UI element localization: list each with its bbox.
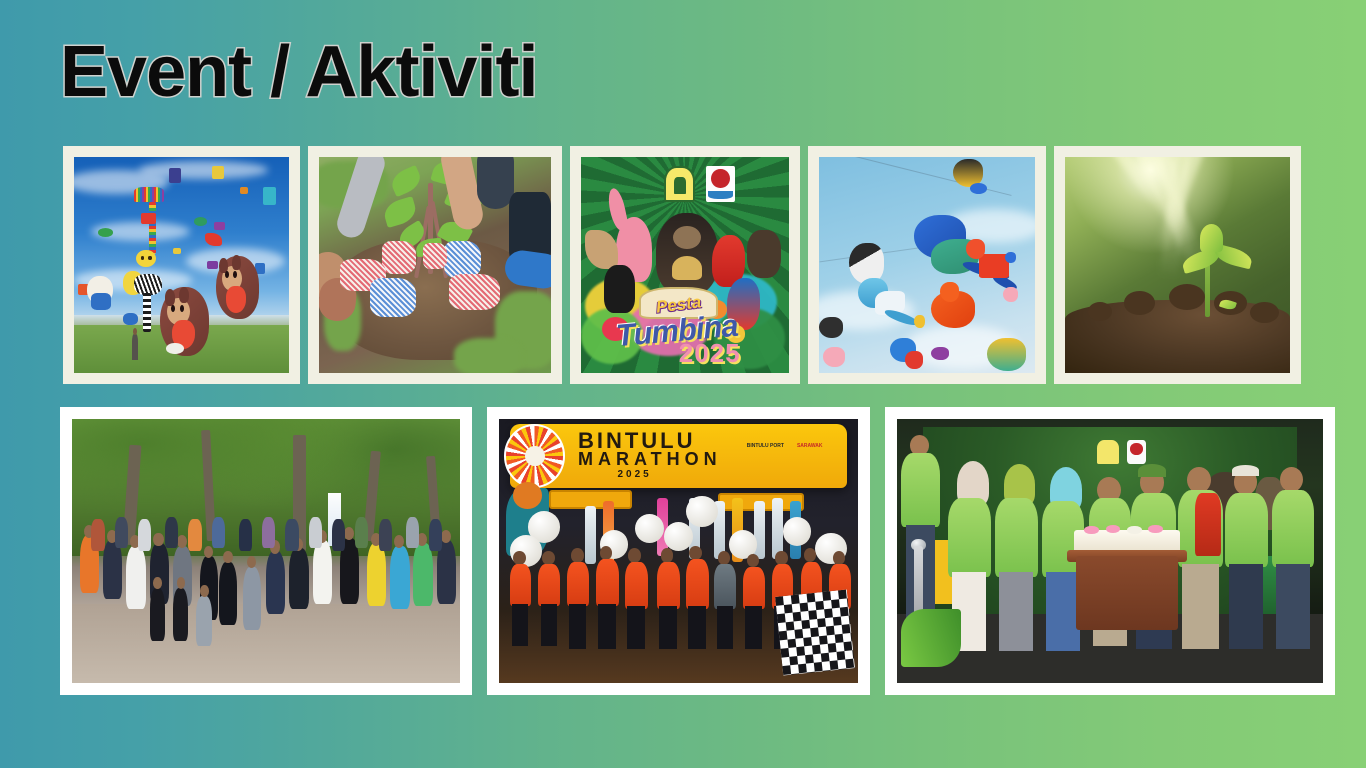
photo-frame-3[interactable]: Pesta Tumbina 2025 xyxy=(570,146,800,384)
photo-7-bintulu-marathon-2025-start-line: BINTULU MARATHON 2025 BINTULU PORT SARAW… xyxy=(499,419,858,683)
photo-5-seedling-in-soil xyxy=(1065,157,1290,373)
photo-8-ceremonial-cake-cutting xyxy=(897,419,1323,683)
sponsor-logo-icon xyxy=(706,166,735,203)
photo-frame-4[interactable] xyxy=(808,146,1046,384)
photo-3-pesta-tumbina-2025-poster: Pesta Tumbina 2025 xyxy=(581,157,789,373)
backdrop-logo-b-icon xyxy=(1127,440,1146,464)
marathon-banner-year: 2025 xyxy=(617,469,651,480)
photo-frame-8[interactable] xyxy=(885,407,1335,695)
photo-frame-1[interactable] xyxy=(63,146,300,384)
photo-frame-6[interactable] xyxy=(60,407,472,695)
gallery-row-top: Pesta Tumbina 2025 xyxy=(63,146,1301,384)
poster-year: 2025 xyxy=(679,338,741,369)
page-title: Event / Aktiviti xyxy=(60,36,537,108)
photo-frame-7[interactable]: BINTULU MARATHON 2025 BINTULU PORT SARAW… xyxy=(487,407,870,695)
checkered-flag xyxy=(775,590,855,676)
photo-frame-2[interactable] xyxy=(308,146,562,384)
photo-frame-5[interactable] xyxy=(1054,146,1301,384)
sun-bear-illustration xyxy=(656,213,718,295)
photo-4-animal-kites-in-sky xyxy=(819,157,1035,373)
tumbina-logo-icon xyxy=(664,166,695,203)
photo-2-tree-planting-gloved-hands xyxy=(319,157,551,373)
gallery-row-bottom: BINTULU MARATHON 2025 BINTULU PORT SARAW… xyxy=(60,407,1335,695)
marathon-banner-line2: MARATHON xyxy=(578,449,722,470)
photo-6-community-run-group-photo xyxy=(72,419,460,683)
backdrop-logo-a-icon xyxy=(1097,440,1118,464)
marathon-sponsor-2: SARAWAK xyxy=(797,443,823,449)
photo-1-kite-festival-chipmunk-kites xyxy=(74,157,289,373)
marathon-sunburst-logo-icon xyxy=(504,424,565,487)
marathon-sponsor-1: BINTULU PORT xyxy=(747,443,784,449)
